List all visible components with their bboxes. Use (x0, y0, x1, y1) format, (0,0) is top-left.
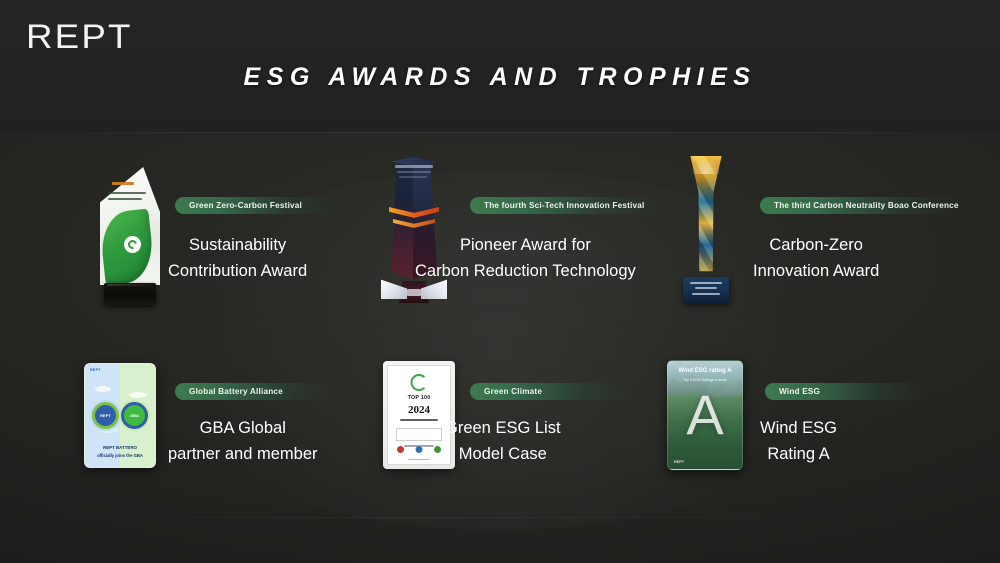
award-item-wind-esg-rating[interactable]: Wind ESG rating A Top 5 ESG Ratings in s… (645, 355, 955, 505)
award-item-gba-global-partner[interactable]: REPT REPT GBA REPT BATTERO officially jo… (60, 355, 360, 505)
card-brand: REPT (674, 460, 684, 464)
award-title: Carbon-Zero Innovation Award (753, 232, 879, 284)
awards-row-1: Green Zero-Carbon Festival Sustainabilit… (0, 150, 1000, 335)
gba-poster-card-icon: REPT REPT GBA REPT BATTERO officially jo… (84, 363, 156, 468)
card-headline: Wind ESG rating A (668, 368, 742, 374)
card-subline: Top 5 ESG Ratings in scale (668, 378, 742, 382)
award-title: Wind ESG Rating A (760, 415, 837, 467)
awards-grid: Green Zero-Carbon Festival Sustainabilit… (0, 150, 1000, 505)
awards-row-2: REPT REPT GBA REPT BATTERO officially jo… (0, 355, 1000, 505)
poster-caption-1: REPT BATTERO (85, 445, 155, 450)
poster-caption-2: officially joins the GBA (85, 453, 155, 458)
award-badge: Green Climate (470, 383, 630, 400)
brand-logo: REPT (26, 20, 133, 54)
award-item-green-esg-list[interactable]: TOP 100 2024 Green Climate Green ESG Lis… (355, 355, 665, 505)
certificate-year: 2024 (388, 404, 450, 416)
award-title: Green ESG List Model Case (445, 415, 561, 467)
card-grade: A (668, 387, 742, 443)
ring-left-label: REPT (95, 405, 116, 426)
award-title: Sustainability Contribution Award (168, 232, 307, 284)
award-badge: The fourth Sci-Tech Innovation Festival (470, 197, 662, 214)
poster-brand: REPT (90, 368, 101, 372)
award-badge: Green Zero-Carbon Festival (175, 197, 335, 214)
wind-esg-forest-card-icon: Wind ESG rating A Top 5 ESG Ratings in s… (667, 360, 743, 470)
certificate-heading: TOP 100 (388, 395, 450, 401)
award-badge: The third Carbon Neutrality Boao Confere… (760, 197, 960, 214)
gold-blue-column-trophy-icon (661, 150, 753, 305)
award-item-sustainability-contribution[interactable]: Green Zero-Carbon Festival Sustainabilit… (60, 150, 360, 335)
award-badge: Wind ESG (765, 383, 925, 400)
award-badge: Global Battery Alliance (175, 383, 335, 400)
ring-right-label: GBA (124, 405, 145, 426)
award-title: GBA Global partner and member (168, 415, 318, 467)
award-title: Pioneer Award for Carbon Reduction Techn… (415, 232, 636, 284)
footer-divider (0, 517, 1000, 518)
award-item-carbon-zero-innovation[interactable]: The third Carbon Neutrality Boao Confere… (645, 150, 955, 335)
page-title: ESG AWARDS AND TROPHIES (0, 63, 1000, 92)
green-leaf-crystal-trophy-icon (82, 160, 178, 305)
header-divider (0, 132, 1000, 133)
slide-root: REPT ESG AWARDS AND TROPHIES Green Zero-… (0, 0, 1000, 563)
award-item-pioneer-carbon-reduction[interactable]: The fourth Sci-Tech Innovation Festival … (355, 150, 665, 335)
